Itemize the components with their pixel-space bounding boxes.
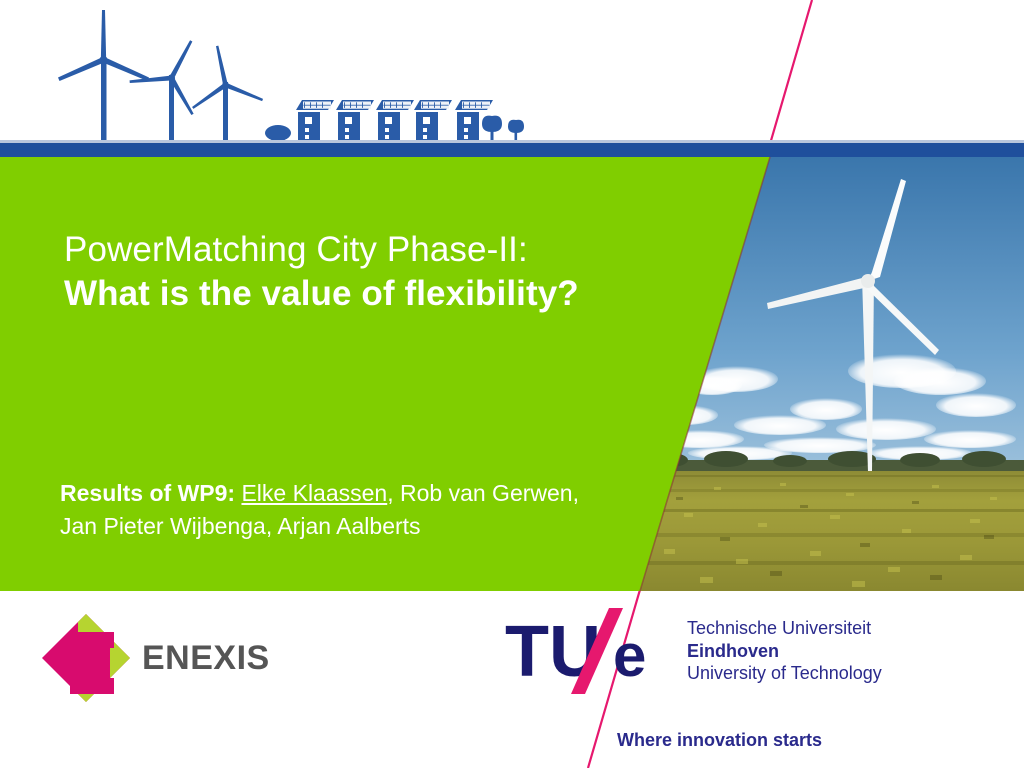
authors-line-1-rest: , Rob van Gerwen, [387, 480, 579, 506]
tue-name-lines: Technische Universiteit Eindhoven Univer… [687, 617, 882, 686]
presenter-name: Elke Klaassen [241, 480, 387, 506]
authors-line-2: Jan Pieter Wijbenga, Arjan Aalberts [60, 510, 579, 543]
enexis-logo: ENEXIS [40, 612, 265, 704]
authors-line-1: Results of WP9: Elke Klaassen, Rob van G… [60, 477, 579, 510]
slide-title: PowerMatching City Phase-II: What is the… [64, 228, 579, 316]
enexis-diamond-icon [40, 612, 132, 704]
title-line-1: PowerMatching City Phase-II: [64, 228, 579, 272]
header-divider [0, 143, 1024, 157]
svg-text:e: e [613, 622, 646, 689]
tue-line-3: University of Technology [687, 662, 882, 685]
tue-monogram-icon: TU e [505, 608, 669, 694]
tue-line-1: Technische Universiteit [687, 617, 882, 640]
title-line-2: What is the value of flexibility? [64, 272, 579, 316]
results-label: Results of WP9: [60, 480, 235, 506]
tue-tagline: Where innovation starts [617, 730, 822, 751]
tue-line-2: Eindhoven [687, 640, 882, 663]
energy-landscape-illustration [0, 0, 1024, 158]
presentation-slide: PowerMatching City Phase-II: What is the… [0, 0, 1024, 768]
tue-logo: TU e Technische Universiteit Eindhoven U… [505, 608, 882, 694]
authors-block: Results of WP9: Elke Klaassen, Rob van G… [60, 477, 579, 542]
enexis-wordmark: ENEXIS [142, 641, 270, 675]
